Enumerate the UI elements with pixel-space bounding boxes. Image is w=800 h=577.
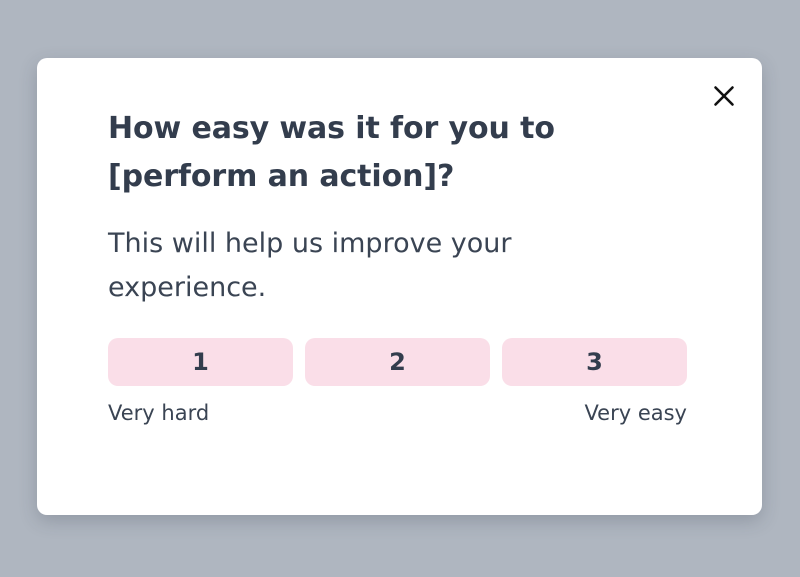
close-icon [713,85,735,107]
scale-endpoint-labels: Very hard Very easy [108,386,687,426]
dialog-content: How easy was it for you to [perform an a… [108,105,688,426]
close-button[interactable] [702,74,746,118]
survey-dialog: How easy was it for you to [perform an a… [37,58,762,515]
rating-option-3[interactable]: 3 [502,338,687,386]
scale-label-low: Very hard [108,400,209,426]
scale-label-high: Very easy [584,400,687,426]
rating-option-2[interactable]: 2 [305,338,490,386]
page-title: How easy was it for you to [perform an a… [108,105,568,201]
rating-scale: 1 2 3 [108,310,687,386]
dialog-subtitle: This will help us improve your experienc… [108,201,568,310]
rating-option-1[interactable]: 1 [108,338,293,386]
